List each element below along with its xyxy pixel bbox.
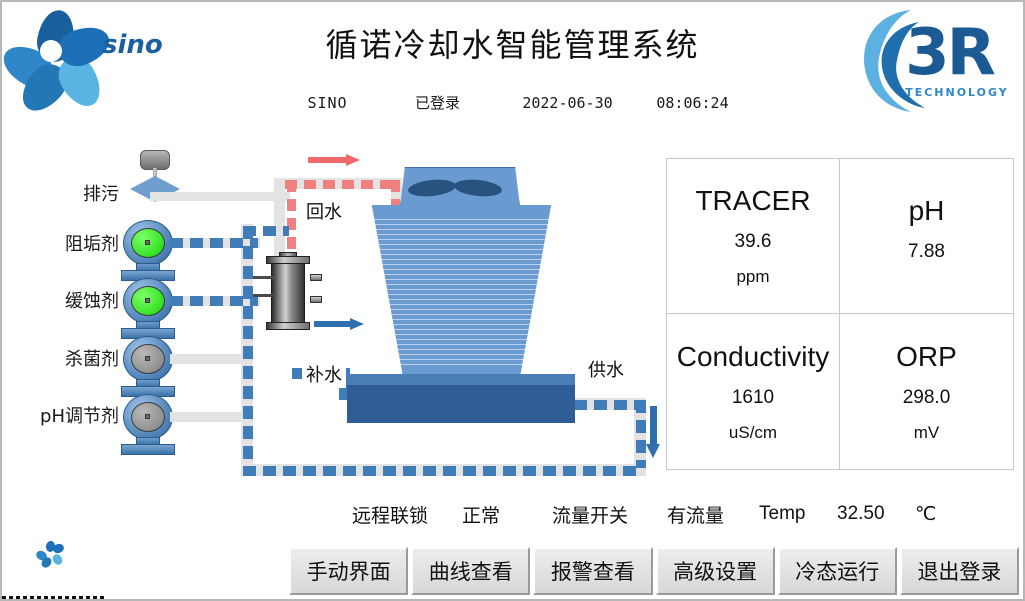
qr-code[interactable] xyxy=(10,514,92,596)
pump-center-dot xyxy=(145,414,150,419)
readout-name: ORP xyxy=(896,341,957,373)
pump-biocide[interactable] xyxy=(120,336,176,398)
main-loop-vertical-dashed xyxy=(243,226,253,472)
dosing-label-corrosion-inhibitor: 缓蚀剂 xyxy=(24,287,119,313)
dosing-label-blowdown: 排污 xyxy=(24,180,119,206)
qr-center-logo xyxy=(37,541,65,569)
dosing-label-biocide: 杀菌剂 xyxy=(24,345,119,371)
readout-name: Conductivity xyxy=(677,341,830,373)
pump-center-dot xyxy=(145,240,150,245)
current-date: 2022-06-30 xyxy=(498,94,638,112)
alarm-view-button[interactable]: 报警查看 xyxy=(533,547,652,595)
remote-interlock-value: 正常 xyxy=(462,501,552,528)
temperature-value: 32.50 xyxy=(837,503,915,525)
analyzer-foot xyxy=(266,322,310,330)
session-status-bar: SINO 已登录 2022-06-30 08:06:24 xyxy=(2,92,1023,113)
system-status-row: 远程联锁 正常 流量开关 有流量 Temp 32.50 ℃ xyxy=(352,496,1017,532)
flow-switch-label: 流量开关 xyxy=(552,501,667,528)
cold-start-run-button[interactable]: 冷态运行 xyxy=(778,547,897,595)
logged-in-user: SINO xyxy=(278,94,378,112)
manual-interface-button[interactable]: 手动界面 xyxy=(289,547,408,595)
main-loop-bottom-dashed xyxy=(243,466,643,476)
supply-flow-arrow xyxy=(646,406,660,458)
readout-name: pH xyxy=(909,195,945,227)
pump-ph-adjuster[interactable] xyxy=(120,394,176,456)
header: sino 3R TECHNOLOGY 循诺冷却水智能管理系统 SINO 已登录 … xyxy=(2,2,1023,124)
supply-loop-vertical-dashed xyxy=(636,400,646,468)
dosing-label-ph-adjuster: pH调节剂 xyxy=(12,402,119,428)
return-flow-arrow xyxy=(308,154,360,166)
water-analyzer-sensor-icon[interactable] xyxy=(264,252,312,340)
measurement-panel: TRACER 39.6 ppm pH 7.88 Conductivity 161… xyxy=(666,158,1014,470)
dosing-label-antiscalant: 阻垢剂 xyxy=(24,230,119,256)
analyzer-port xyxy=(310,274,322,281)
cooling-tower xyxy=(342,167,612,417)
tower-fill-louvers xyxy=(364,219,559,367)
pump-center-dot xyxy=(145,356,150,361)
hmi-screen: sino 3R TECHNOLOGY 循诺冷却水智能管理系统 SINO 已登录 … xyxy=(0,0,1025,601)
readout-value: 298.0 xyxy=(903,387,951,409)
bottom-edge-stripe xyxy=(2,596,107,601)
flow-switch-value: 有流量 xyxy=(667,501,759,528)
pump-antiscalant[interactable] xyxy=(120,220,176,282)
analyzer-probe xyxy=(253,294,275,297)
readout-conductivity: Conductivity 1610 uS/cm xyxy=(667,314,840,469)
action-button-bar: 手动界面 曲线查看 报警查看 高级设置 冷态运行 退出登录 xyxy=(289,547,1019,595)
readout-ph: pH 7.88 xyxy=(840,159,1013,314)
readout-value: 1610 xyxy=(732,387,774,409)
page-title: 循诺冷却水智能管理系统 xyxy=(2,20,1023,66)
readout-unit: mV xyxy=(914,423,940,443)
readout-name: TRACER xyxy=(695,185,810,217)
readout-tracer: TRACER 39.6 ppm xyxy=(667,159,840,314)
analyzer-port xyxy=(310,296,322,303)
logout-button[interactable]: 退出登录 xyxy=(900,547,1019,595)
pipe-ph-run xyxy=(170,412,252,422)
pipe-biocide-run xyxy=(170,354,252,364)
curve-view-button[interactable]: 曲线查看 xyxy=(411,547,530,595)
readout-value: 39.6 xyxy=(735,231,772,253)
analyzer-probe xyxy=(253,276,275,279)
label-return-water: 回水 xyxy=(302,197,346,225)
label-makeup-water: 补水 xyxy=(302,360,346,388)
pump-center-dot xyxy=(145,298,150,303)
pump-base xyxy=(121,444,175,455)
readout-unit: uS/cm xyxy=(729,423,777,443)
pump-corrosion-inhibitor[interactable] xyxy=(120,278,176,340)
advanced-settings-button[interactable]: 高级设置 xyxy=(656,547,775,595)
tower-basin xyxy=(347,385,575,423)
analyzer-tube xyxy=(271,263,305,323)
label-supply-water: 供水 xyxy=(584,355,628,383)
main-loop-top-dashed xyxy=(243,226,289,236)
readout-unit: ppm xyxy=(736,267,769,287)
valve-handle xyxy=(140,150,170,170)
temperature-label: Temp xyxy=(759,503,837,525)
readout-orp: ORP 298.0 mV xyxy=(840,314,1013,469)
readout-value: 7.88 xyxy=(908,241,945,263)
pipe-blowdown-run xyxy=(150,192,290,201)
temperature-unit: ℃ xyxy=(915,503,955,525)
current-time: 08:06:24 xyxy=(638,94,748,112)
remote-interlock-label: 远程联锁 xyxy=(352,501,462,528)
login-status: 已登录 xyxy=(378,92,498,113)
